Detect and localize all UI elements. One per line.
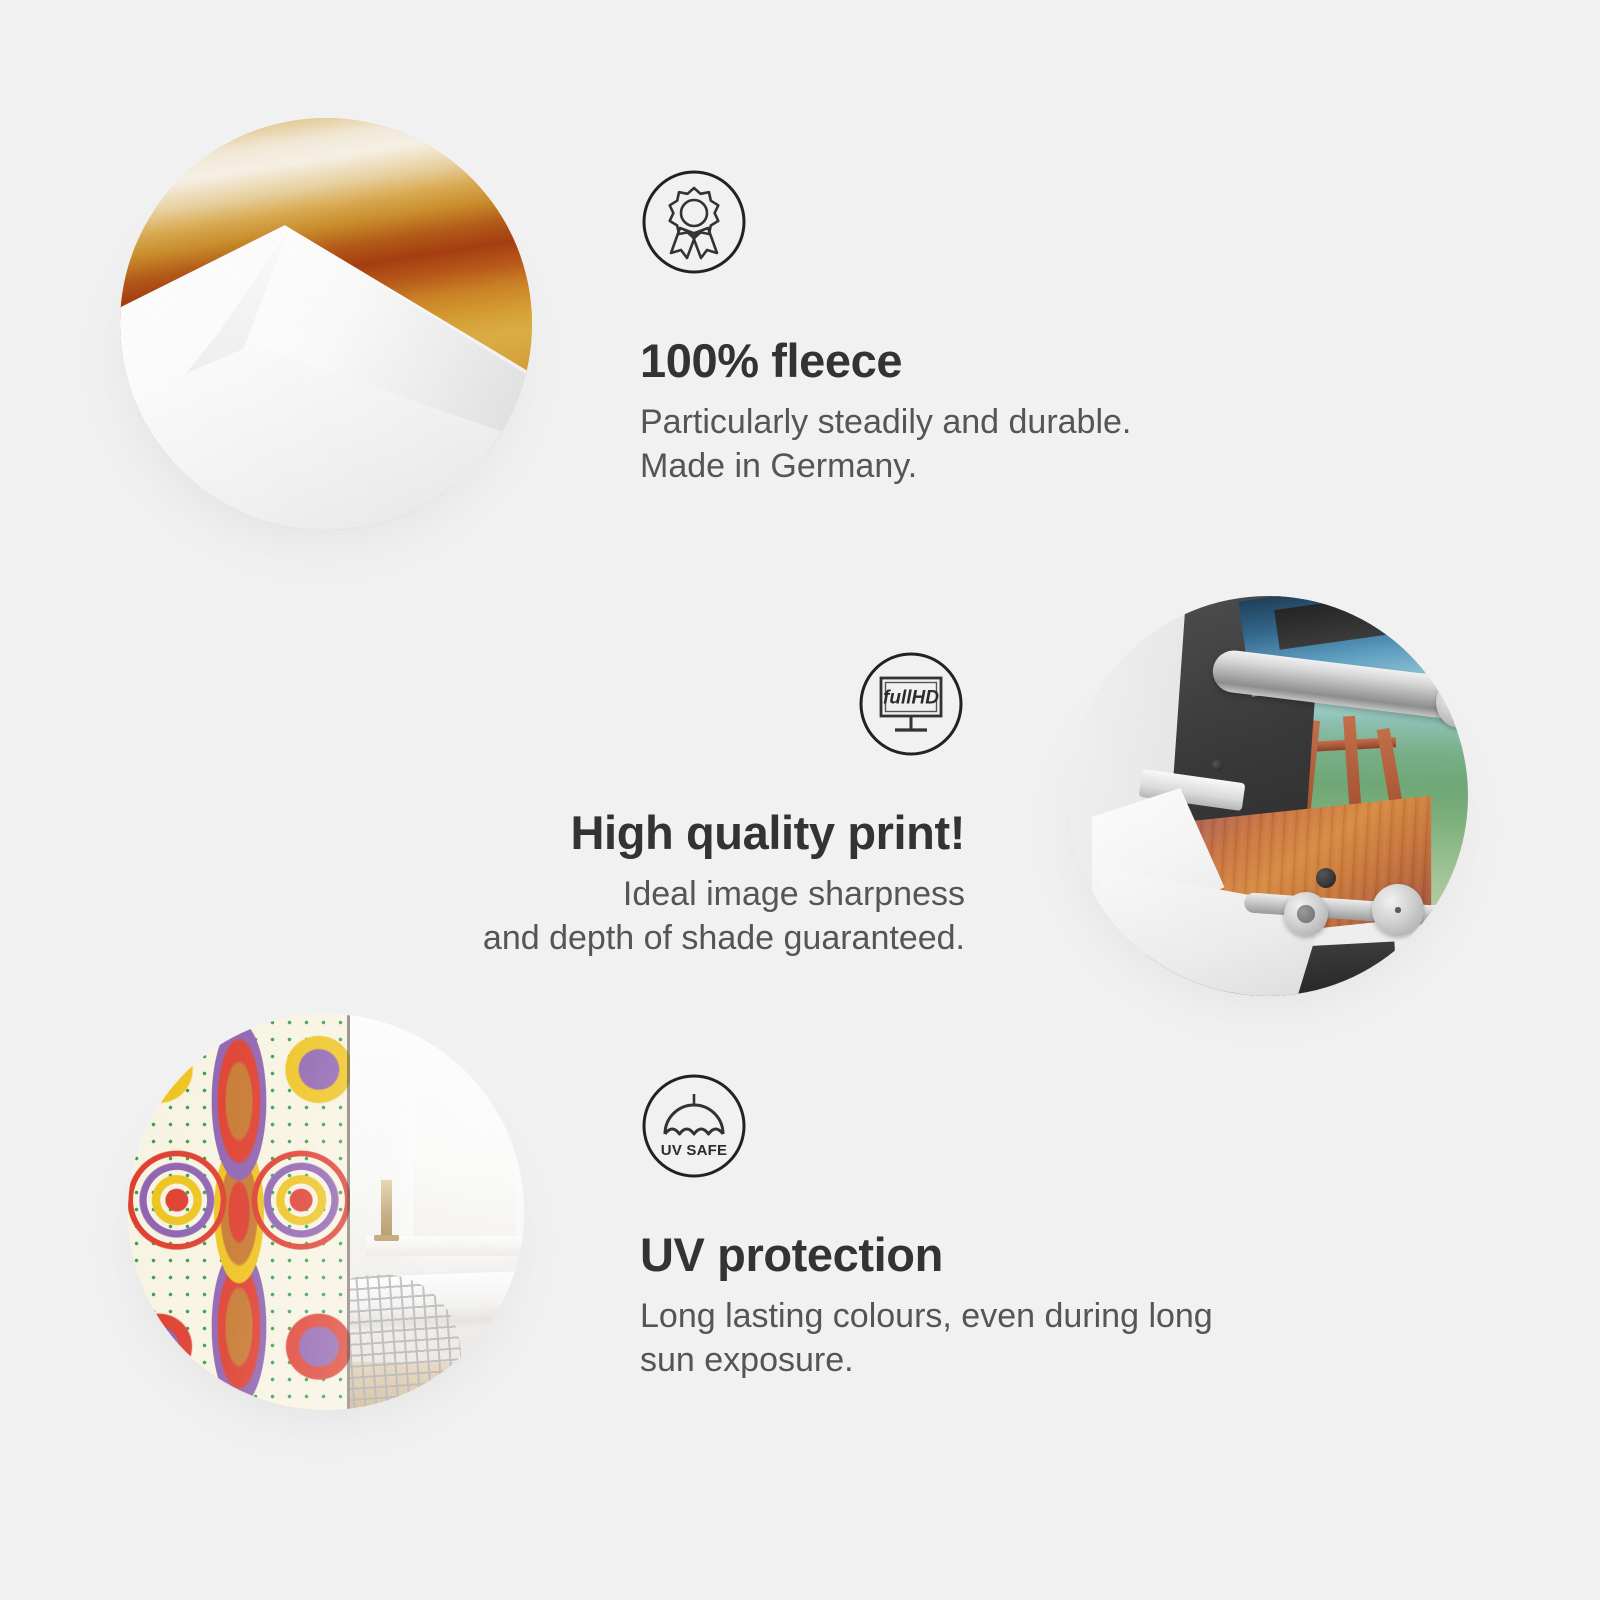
feature-print-body: Ideal image sharpness and depth of shade… [205,873,965,960]
feature-print-headline: High quality print! [205,808,965,857]
feature-print-body-line-1: Ideal image sharpness [623,875,965,913]
large-format-printer-photo [1068,596,1468,996]
award-ribbon-icon [640,168,748,276]
feature-fleece-copy: 100% fleece Particularly steadily and du… [640,336,1400,488]
feature-fleece-body: Particularly steadily and durable. Made … [640,401,1400,488]
feature-print-body-line-2: and depth of shade guaranteed. [483,919,965,957]
svg-text:fullHD: fullHD [883,688,939,709]
feature-fleece-headline: 100% fleece [640,336,1400,385]
feature-uv-body-line-2: sun exposure. [640,1341,854,1379]
svg-text:UV SAFE: UV SAFE [661,1142,727,1159]
feature-panel: 100% fleece Particularly steadily and du… [0,0,1600,1600]
mandala-wallpaper-room-photo [128,1014,524,1410]
uv-safe-umbrella-icon: UV SAFE [640,1072,748,1180]
feature-print-copy: High quality print! Ideal image sharpnes… [205,808,965,960]
feature-uv-copy: UV protection Long lasting colours, even… [640,1230,1400,1382]
feature-fleece-body-line-2: Made in Germany. [640,447,917,485]
feature-uv-headline: UV protection [640,1230,1400,1279]
curled-fleece-wallpaper-photo [120,118,532,530]
feature-uv-body-line-1: Long lasting colours, even during long [640,1297,1213,1335]
feature-uv-body: Long lasting colours, even during long s… [640,1295,1400,1382]
fullhd-monitor-icon: fullHD [857,650,965,758]
feature-fleece-body-line-1: Particularly steadily and durable. [640,403,1131,441]
